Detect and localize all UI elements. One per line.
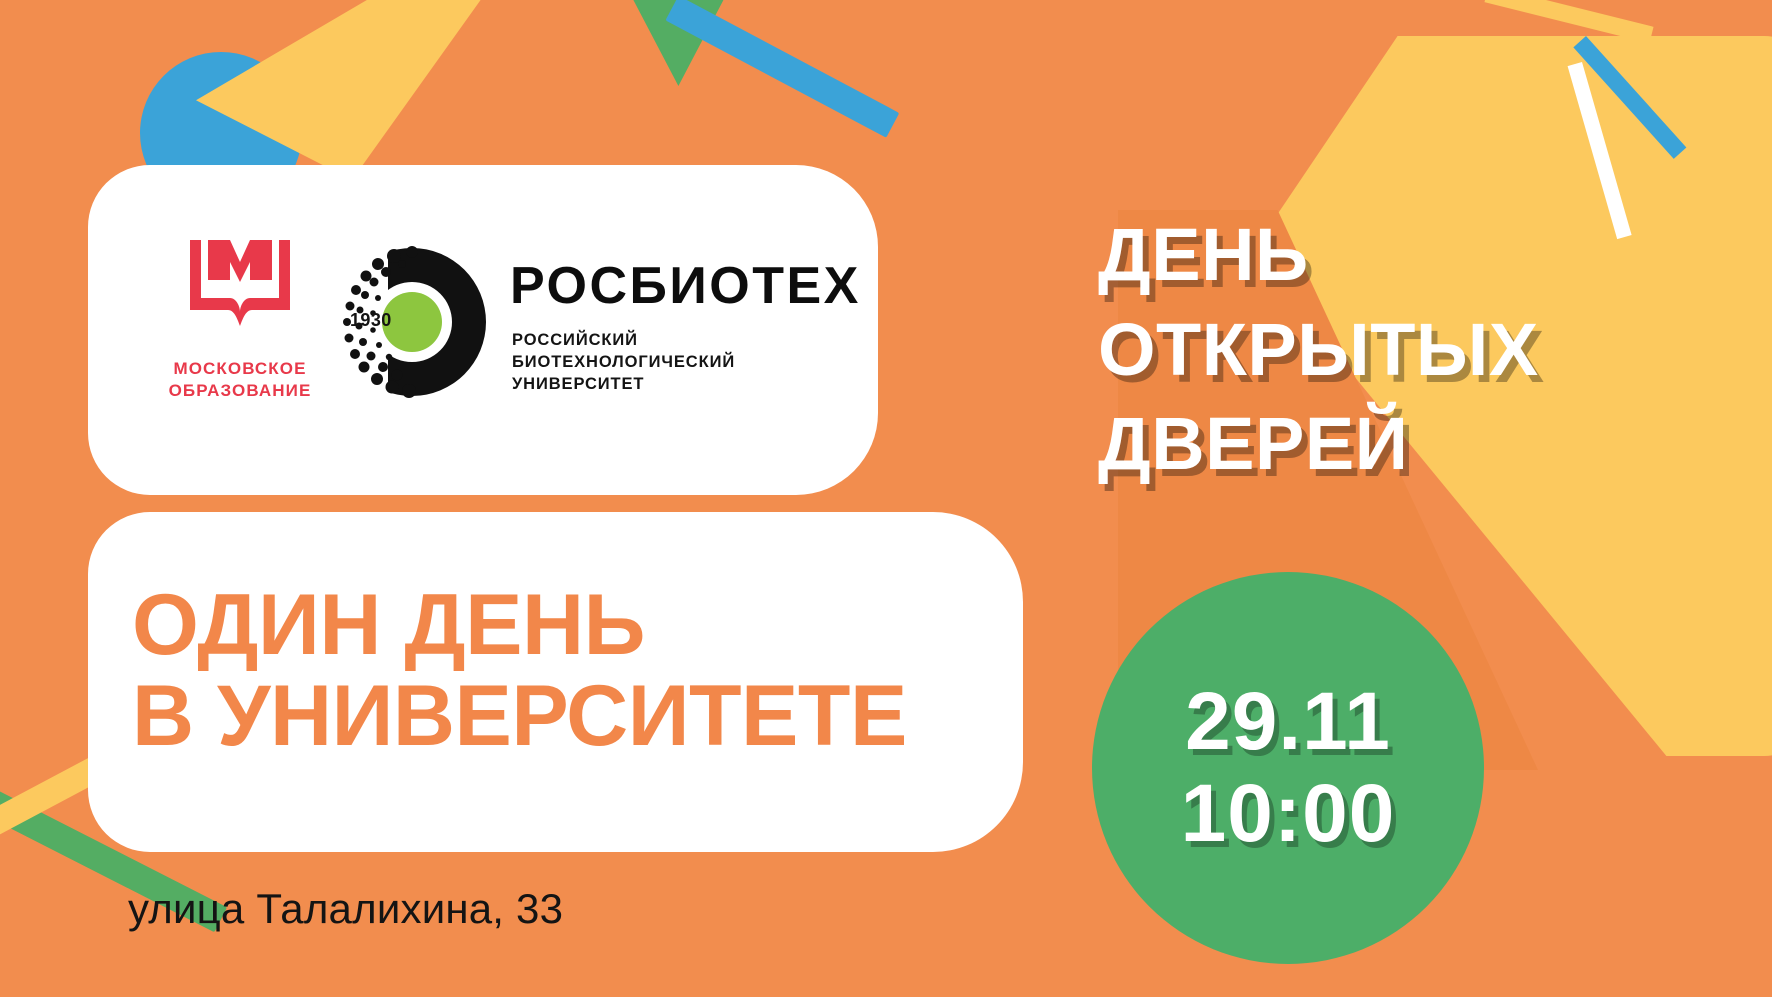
moscow-education-name-line2: ОБРАЗОВАНИЕ xyxy=(169,380,312,402)
moscow-education-name-line1: МОСКОВСКОЕ xyxy=(169,358,312,380)
rosbiotech-logo: 1930 РОСБИОТЕХ РОССИЙСКИЙ БИОТЕХНОЛОГИЧЕ… xyxy=(328,238,848,408)
headline-line3: ДВЕРЕЙ xyxy=(1098,397,1698,492)
headline-line2: ОТКРЫТЫХ xyxy=(1098,303,1698,398)
rosbiotech-year: 1930 xyxy=(350,310,392,331)
blue-bar-decor-top xyxy=(665,0,899,138)
main-title-line2: В УНИВЕРСИТЕТЕ xyxy=(132,671,907,762)
rosbiotech-subtitle-line3: УНИВЕРСИТЕТ xyxy=(512,374,735,396)
main-title-line1: ОДИН ДЕНЬ xyxy=(132,580,907,671)
event-date: 29.11 xyxy=(1185,676,1391,768)
open-book-m-icon xyxy=(184,236,296,348)
headline: ДЕНЬ ОТКРЫТЫХ ДВЕРЕЙ xyxy=(1098,208,1698,492)
venue-address: улица Талалихина, 33 xyxy=(128,885,563,933)
rosbiotech-subtitle: РОССИЙСКИЙ БИОТЕХНОЛОГИЧЕСКИЙ УНИВЕРСИТЕ… xyxy=(512,330,735,396)
moscow-education-logo: МОСКОВСКОЕ ОБРАЗОВАНИЕ xyxy=(140,236,340,426)
event-time: 10:00 xyxy=(1181,768,1396,860)
moscow-education-name: МОСКОВСКОЕ ОБРАЗОВАНИЕ xyxy=(169,358,312,402)
date-time-badge: 29.11 10:00 xyxy=(1092,572,1484,964)
headline-line1: ДЕНЬ xyxy=(1098,208,1698,303)
main-title: ОДИН ДЕНЬ В УНИВЕРСИТЕТЕ xyxy=(132,580,907,762)
rosbiotech-subtitle-line2: БИОТЕХНОЛОГИЧЕСКИЙ xyxy=(512,352,735,374)
poster-canvas: МОСКОВСКОЕ ОБРАЗОВАНИЕ xyxy=(0,0,1772,997)
rosbiotech-wordmark: РОСБИОТЕХ xyxy=(510,260,861,312)
rosbiotech-subtitle-line1: РОССИЙСКИЙ xyxy=(512,330,735,352)
